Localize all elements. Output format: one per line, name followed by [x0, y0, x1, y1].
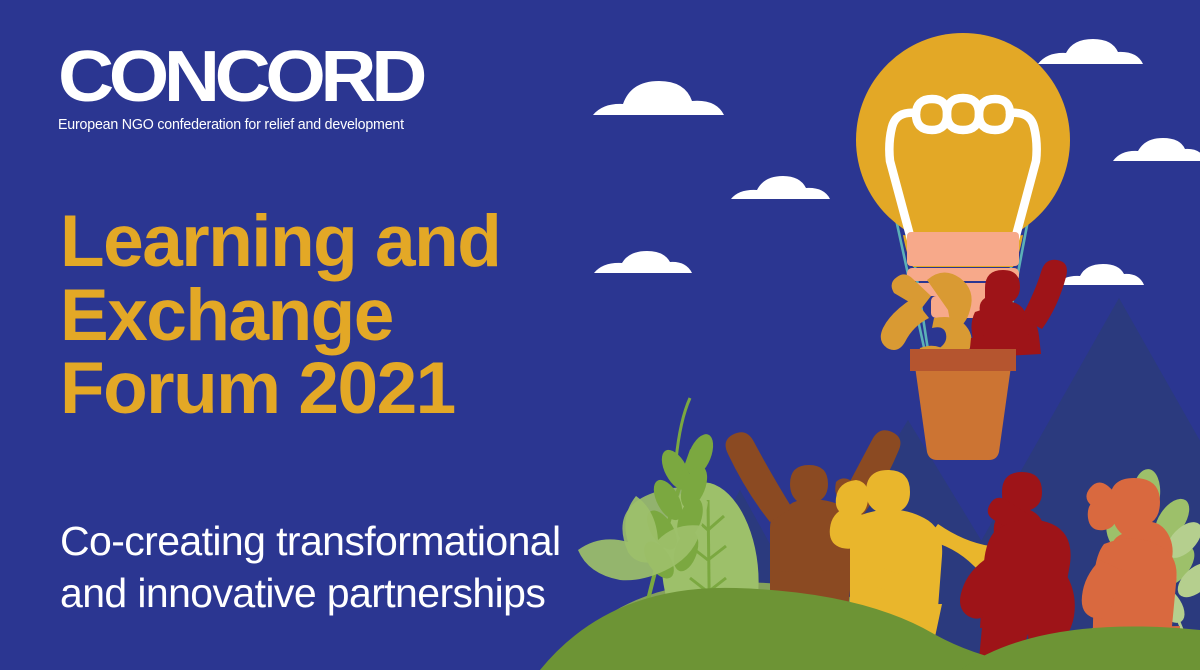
- logo-tagline: European NGO confederation for relief an…: [58, 117, 450, 133]
- page-subtitle: Co-creating transformational and innovat…: [60, 515, 740, 620]
- logo-wordmark: CONCORD: [58, 44, 490, 110]
- balloon-basket: [910, 349, 1016, 460]
- basket-rim: [910, 349, 1016, 371]
- page-title: Learning and Exchange Forum 2021: [60, 205, 680, 426]
- poster-canvas: CONCORD European NGO confederation for r…: [0, 0, 1200, 670]
- concord-logo: CONCORD European NGO confederation for r…: [58, 44, 458, 133]
